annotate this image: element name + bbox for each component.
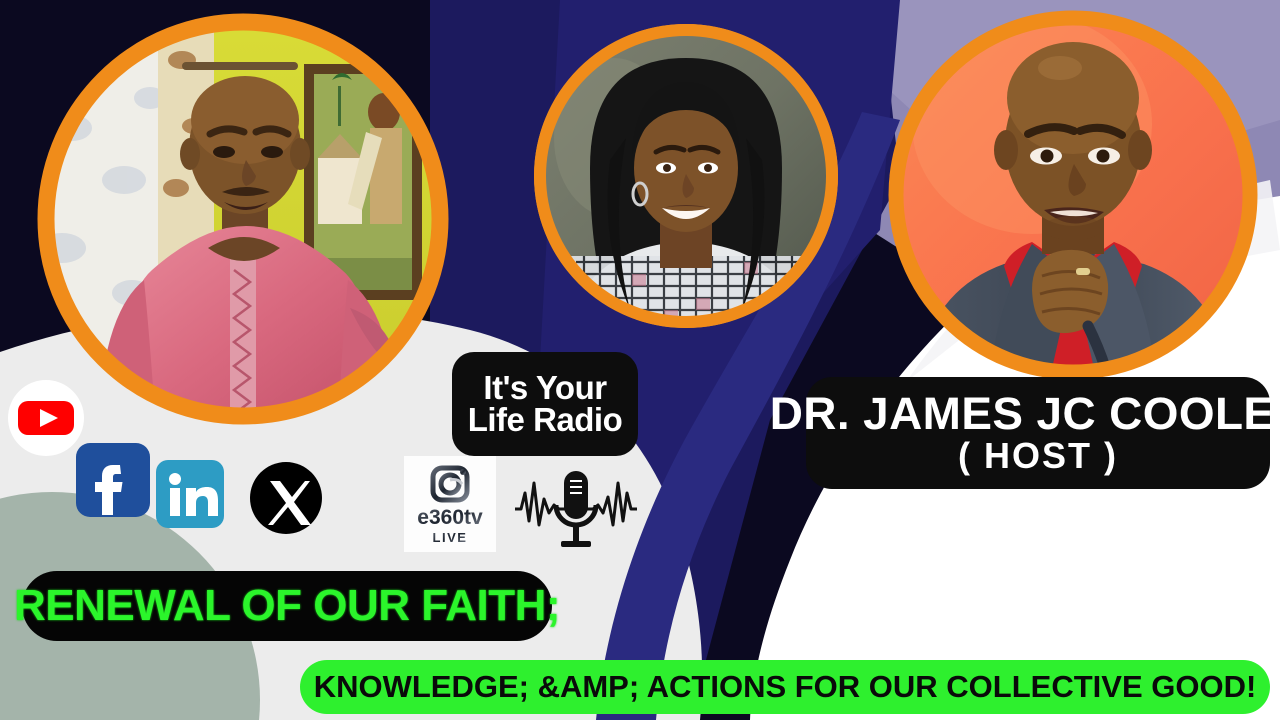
camera-lens-icon bbox=[433, 468, 467, 500]
avatar-host-right bbox=[882, 4, 1264, 386]
show-name-badge: It's Your Life Radio bbox=[452, 352, 638, 456]
avatar-guest-center bbox=[528, 18, 844, 334]
show-name-line1: It's Your bbox=[483, 372, 606, 404]
facebook-icon[interactable] bbox=[76, 443, 150, 517]
host-name: DR. JAMES JC COOLEY bbox=[770, 392, 1280, 436]
thumbnail-canvas: e360tv LIVE It's Your Life Radio DR. JAM… bbox=[0, 0, 1280, 720]
avatar-guest-left bbox=[32, 8, 454, 430]
title-line-2: KNOWLEDGE; &AMP; ACTIONS FOR OUR COLLECT… bbox=[300, 660, 1270, 714]
host-role: ( HOST ) bbox=[958, 438, 1118, 473]
e360tv-live-tag: LIVE bbox=[433, 530, 468, 545]
linkedin-icon[interactable] bbox=[156, 460, 224, 528]
e360tv-logo: e360tv LIVE bbox=[404, 456, 496, 552]
x-twitter-icon[interactable] bbox=[250, 462, 322, 534]
e360tv-wordmark: e360tv bbox=[417, 506, 483, 529]
podcast-microphone-icon bbox=[513, 465, 639, 551]
show-name-line2: Life Radio bbox=[468, 404, 623, 436]
host-name-badge: DR. JAMES JC COOLEY ( HOST ) bbox=[806, 377, 1270, 489]
avatar-guest-left-image bbox=[32, 8, 454, 430]
avatar-guest-center-image bbox=[528, 18, 844, 334]
title-line-1: RENEWAL OF OUR FAITH; bbox=[22, 571, 552, 641]
avatar-host-right-image bbox=[882, 4, 1264, 386]
youtube-icon[interactable] bbox=[8, 380, 84, 456]
